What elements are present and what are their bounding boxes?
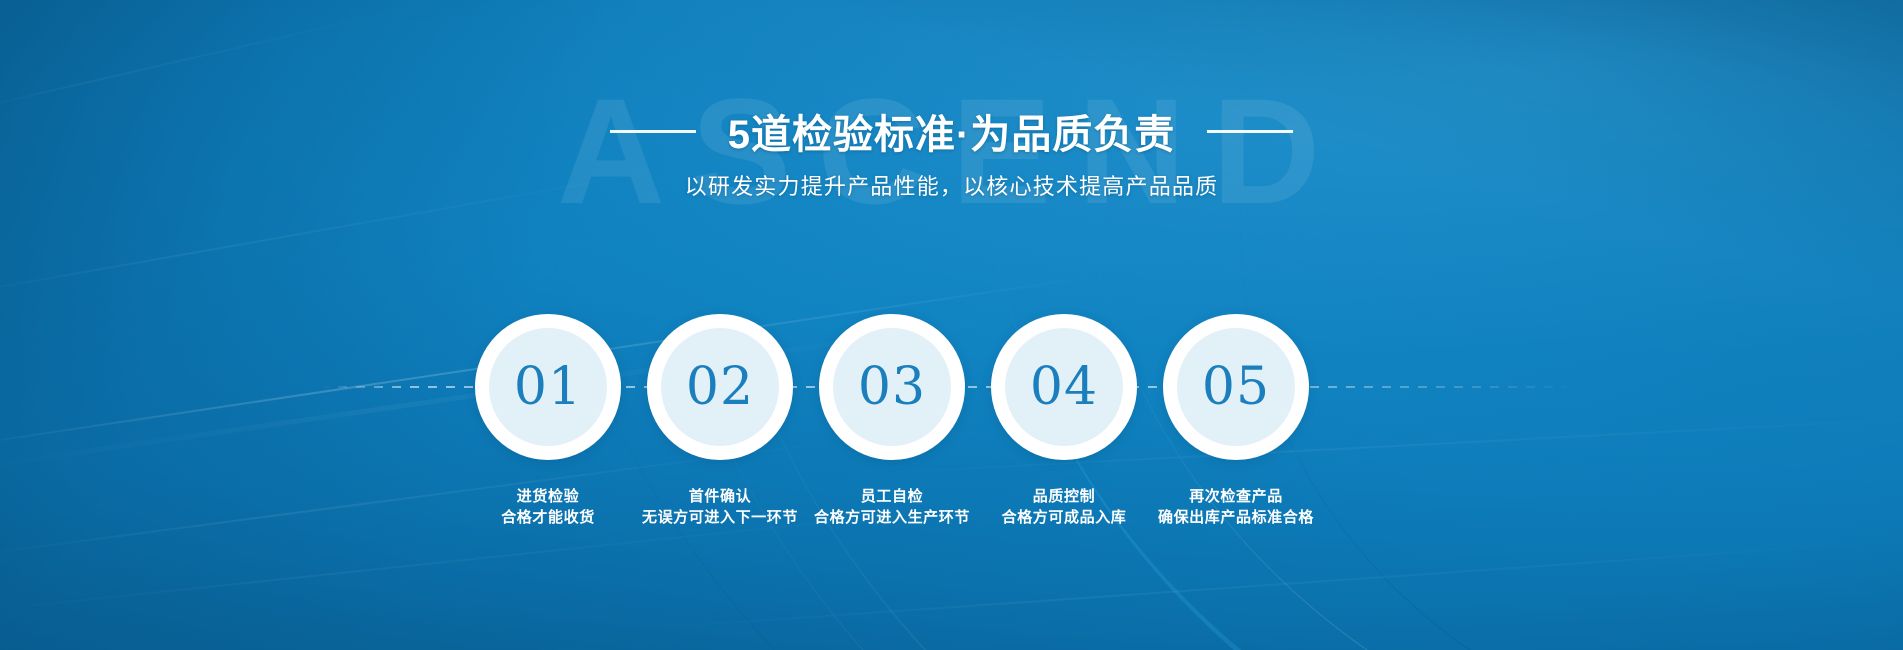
- step-circle-01: 01: [475, 314, 621, 460]
- step-title-04: 品质控制: [1002, 486, 1127, 507]
- step-caption-05: 再次检查产品 确保出库产品标准合格: [1158, 486, 1314, 528]
- step-desc-04: 合格方可成品入库: [1002, 507, 1127, 528]
- step-caption-03: 员工自检 合格方可进入生产环节: [814, 486, 970, 528]
- step-caption-02: 首件确认 无误方可进入下一环节: [642, 486, 798, 528]
- step-number-04: 04: [1030, 361, 1098, 413]
- step-desc-01: 合格才能收货: [501, 507, 595, 528]
- step-title-01: 进货检验: [501, 486, 595, 507]
- step-item-05: 05 再次检查产品 确保出库产品标准合格: [1150, 314, 1322, 528]
- title-rule-right-icon: [1207, 130, 1293, 133]
- step-circle-05: 05: [1163, 314, 1309, 460]
- step-desc-05: 确保出库产品标准合格: [1158, 507, 1314, 528]
- step-title-05: 再次检查产品: [1158, 486, 1314, 507]
- step-circle-inner-02: 02: [661, 328, 779, 446]
- step-title-02: 首件确认: [642, 486, 798, 507]
- page-title: 5道检验标准·为品质负责: [728, 102, 1176, 160]
- step-circle-04: 04: [991, 314, 1137, 460]
- step-desc-02: 无误方可进入下一环节: [642, 507, 798, 528]
- step-circle-inner-03: 03: [833, 328, 951, 446]
- quality-standards-banner: ASCEND 5道检验标准·为品质负责 以研发实力提升产品性能，以核心技术提高产…: [0, 0, 1903, 650]
- step-circle-inner-01: 01: [489, 328, 607, 446]
- step-item-02: 02 首件确认 无误方可进入下一环节: [634, 314, 806, 528]
- step-circle-inner-04: 04: [1005, 328, 1123, 446]
- step-number-05: 05: [1202, 361, 1270, 413]
- step-title-03: 员工自检: [814, 486, 970, 507]
- step-desc-03: 合格方可进入生产环节: [814, 507, 970, 528]
- step-caption-04: 品质控制 合格方可成品入库: [1002, 486, 1127, 528]
- step-item-04: 04 品质控制 合格方可成品入库: [978, 314, 1150, 528]
- step-circle-inner-05: 05: [1177, 328, 1295, 446]
- step-circle-02: 02: [647, 314, 793, 460]
- step-number-01: 01: [514, 361, 582, 413]
- title-rule-left-icon: [610, 130, 696, 133]
- step-number-02: 02: [686, 361, 754, 413]
- page-subtitle: 以研发实力提升产品性能，以核心技术提高产品品质: [0, 169, 1903, 201]
- steps-list: 01 进货检验 合格才能收货 02 首件确认 无误方可进入下一环节: [462, 314, 1322, 528]
- step-number-03: 03: [858, 361, 926, 413]
- step-caption-01: 进货检验 合格才能收货: [501, 486, 595, 528]
- step-item-01: 01 进货检验 合格才能收货: [462, 314, 634, 528]
- step-item-03: 03 员工自检 合格方可进入生产环节: [806, 314, 978, 528]
- title-row: 5道检验标准·为品质负责: [0, 102, 1903, 160]
- step-circle-03: 03: [819, 314, 965, 460]
